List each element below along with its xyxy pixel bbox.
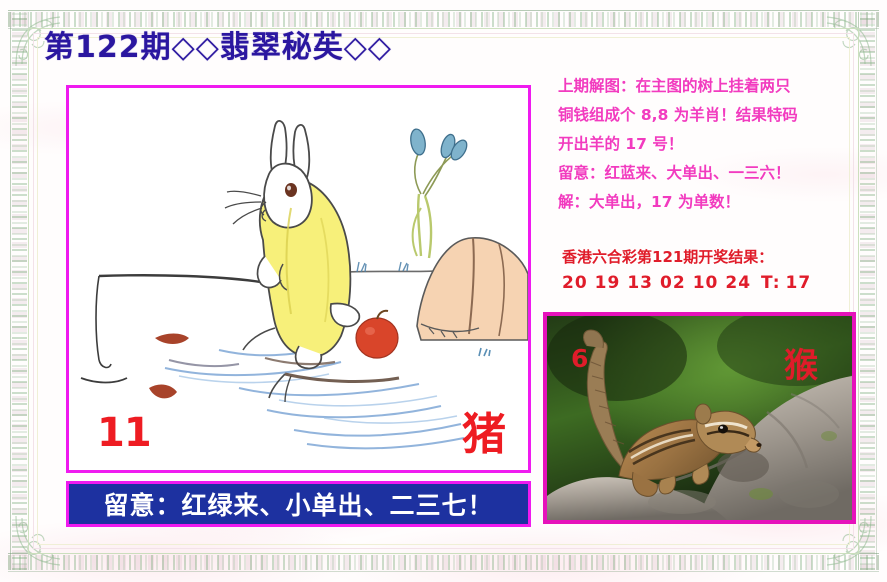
main-picture-zodiac: 猪 (462, 398, 506, 462)
lottery-number: 10 (693, 273, 719, 293)
notice-banner-text: 留意：红绿来、小单出、二三七！ (103, 486, 493, 522)
special-number-label: T: (761, 273, 780, 293)
commentary-line: 开出羊的 17 号！ (558, 130, 858, 159)
commentary-line: 上期解图：在主图的树上挂着两只 (558, 72, 858, 101)
corner-flourish-top-right (815, 10, 877, 72)
page-root: 第122期◇◇翡翠秘苵◇◇ (0, 0, 887, 582)
lottery-number: 13 (627, 273, 653, 293)
notice-banner: 留意：红绿来、小单出、二三七！ (66, 481, 531, 527)
photo-zodiac: 猴 (784, 338, 818, 387)
lottery-result-block: 香港六合彩第121期开奖结果： 201913021024T:17 (562, 244, 862, 296)
lottery-number: 20 (562, 273, 588, 293)
page-title: 第122期◇◇翡翠秘苵◇◇ (44, 22, 392, 66)
lace-border-right (860, 12, 875, 570)
lottery-result-title: 香港六合彩第121期开奖结果： (562, 244, 862, 270)
special-number: 17 (786, 273, 812, 293)
photo-number: 6 (571, 344, 588, 373)
main-picture-panel[interactable]: 11 猪 (66, 85, 531, 473)
lace-border-left (12, 12, 27, 570)
lace-border-bottom (8, 555, 879, 570)
chipmunk-photo-panel[interactable]: 6 猴 (543, 312, 856, 524)
commentary-line: 解：大单出，17 为单数！ (558, 188, 858, 217)
commentary-block: 上期解图：在主图的树上挂着两只 铜钱组成个 8,8 为羊肖！结果特码 开出羊的 … (558, 72, 858, 217)
commentary-line: 铜钱组成个 8,8 为羊肖！结果特码 (558, 101, 858, 130)
lottery-number: 19 (595, 273, 621, 293)
corner-flourish-bottom-left (10, 510, 72, 572)
main-picture-number: 11 (97, 410, 151, 456)
lottery-number: 02 (660, 273, 686, 293)
lottery-result-numbers: 201913021024T:17 (562, 270, 862, 296)
commentary-line: 留意：红蓝来、大单出、一三六！ (558, 159, 858, 188)
lottery-number: 24 (725, 273, 751, 293)
